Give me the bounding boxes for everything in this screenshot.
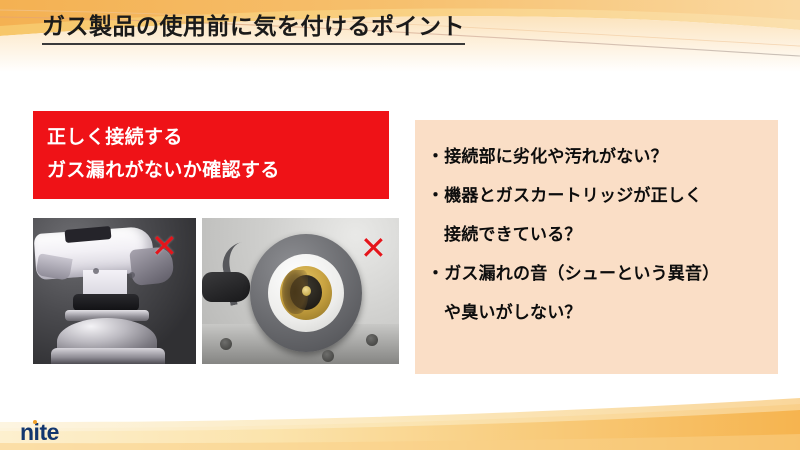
torch-screw-dot	[93, 268, 99, 274]
photo-gas-torch-on-cartridge: ✕	[33, 218, 196, 364]
x-mark-icon: ✕	[360, 232, 387, 264]
photo-strip: ✕ ✕	[33, 218, 399, 364]
nite-logo-accent-dot	[33, 420, 37, 424]
checklist-line: ・機器とガスカートリッジが正しく	[427, 187, 766, 204]
nite-logo-text: nite	[20, 419, 59, 445]
plate-hole-shape	[366, 334, 378, 346]
checklist-line: や臭いがしない？	[427, 304, 766, 321]
nite-logo: nite	[20, 421, 59, 444]
slide-canvas: ガス製品の使用前に気を付けるポイント 正しく接続する ガス漏れがないか確認する …	[0, 0, 800, 450]
cartridge-collar-shape	[73, 294, 139, 311]
page-title: ガス製品の使用前に気を付けるポイント	[42, 12, 465, 45]
cartridge-base-shape	[51, 348, 165, 364]
photo-dirty-connection-port: ✕	[202, 218, 399, 364]
red-callout-line-2: ガス漏れがないか確認する	[47, 155, 389, 188]
red-callout-line-1: 正しく接続する	[47, 122, 389, 155]
torch-screw-dot	[129, 272, 135, 278]
port-pin-shape	[302, 286, 311, 296]
plate-hole-shape	[322, 350, 334, 362]
checklist-line: 接続できている？	[427, 226, 766, 243]
checklist-panel: ・接続部に劣化や汚れがない？ ・機器とガスカートリッジが正しく 接続できている？…	[415, 120, 778, 374]
checklist-line: ・接続部に劣化や汚れがない？	[427, 148, 766, 165]
footer-banner	[0, 398, 800, 450]
black-clip-shape	[202, 272, 250, 302]
x-mark-icon: ✕	[151, 230, 178, 262]
checklist-line: ・ガス漏れの音（シューという異音）	[427, 265, 766, 282]
plate-hole-shape	[220, 338, 232, 350]
red-callout-box: 正しく接続する ガス漏れがないか確認する	[33, 111, 389, 199]
footer-swoosh-graphic	[0, 398, 800, 450]
